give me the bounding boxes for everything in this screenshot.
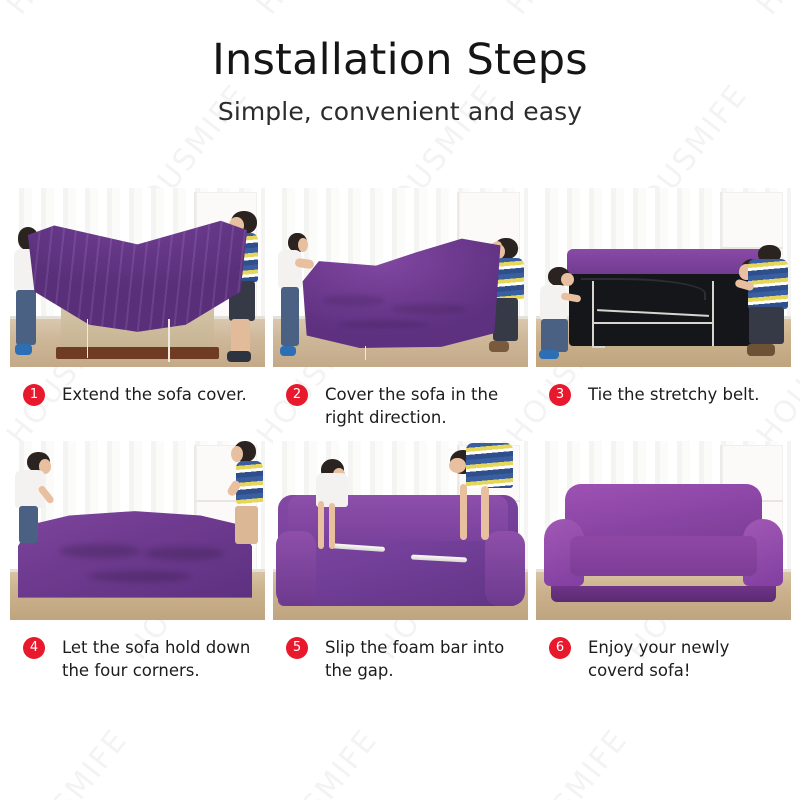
step-photo-2 [273,188,528,367]
watermark-text: HOUSMIFE [0,723,135,800]
cover-strap [365,346,367,360]
stretchy-belt [712,281,714,345]
step-card-5: 5 Slip the foam bar into the gap. [273,441,528,694]
step-card-4: 4 Let the sofa hold down the four corner… [10,441,265,694]
person-right [441,441,518,559]
step-number-badge: 3 [549,384,571,406]
step-caption-text: Enjoy your newly coverd sofa! [588,636,788,683]
step-photo-4 [10,441,265,620]
step-caption-text: Extend the sofa cover. [62,383,247,406]
watermark-text: HOUSMIFE [250,723,385,800]
step-photo-3 [536,188,791,367]
step-caption-6: 6 Enjoy your newly coverd sofa! [536,620,791,694]
step-caption-4: 4 Let the sofa hold down the four corner… [10,620,265,694]
watermark-text: HOUSMIFE [750,723,800,800]
step-caption-text: Slip the foam bar into the gap. [325,636,525,683]
watermark-text: HOUSMIFE [0,508,5,667]
cover-strap [168,319,170,362]
person-right [735,245,791,363]
page-subtitle: Simple, convenient and easy [0,83,800,126]
person-left [309,459,355,559]
step-caption-2: 2 Cover the sofa in the right direction. [273,367,528,441]
step-caption-text: Cover the sofa in the right direction. [325,383,525,430]
step-photo-6 [536,441,791,620]
step-number-badge: 1 [23,384,45,406]
cover-strap [87,319,89,358]
step-card-1: 1 Extend the sofa cover. [10,188,265,441]
step-number-badge: 4 [23,637,45,659]
stretchy-belt [592,281,594,345]
step-card-3: 3 Tie the stretchy belt. [536,188,791,441]
step-caption-text: Let the sofa hold down the four corners. [62,636,262,683]
step-card-6: 6 Enjoy your newly coverd sofa! [536,441,791,694]
step-caption-1: 1 Extend the sofa cover. [10,367,265,441]
step-caption-5: 5 Slip the foam bar into the gap. [273,620,528,694]
step-card-2: 2 Cover the sofa in the right direction. [273,188,528,441]
step-photo-5 [273,441,528,620]
finished-covered-sofa [546,484,781,602]
step-caption-text: Tie the stretchy belt. [588,383,759,406]
belt-hook [592,346,605,348]
person-right [224,441,265,566]
step-caption-3: 3 Tie the stretchy belt. [536,367,791,441]
page-title: Installation Steps [0,0,800,83]
step-number-badge: 2 [286,384,308,406]
header: Installation Steps Simple, convenient an… [0,0,800,178]
steps-grid: 1 Extend the sofa cover. [10,188,790,694]
step-photo-1 [10,188,265,367]
watermark-text: HOUSMIFE [500,723,635,800]
sofa-seat [570,536,758,576]
step-number-badge: 6 [549,637,571,659]
step-number-badge: 5 [286,637,308,659]
sofa-skirt [551,586,776,603]
person-left [539,267,582,364]
stretchy-belt [592,322,714,324]
person-left [15,452,58,556]
